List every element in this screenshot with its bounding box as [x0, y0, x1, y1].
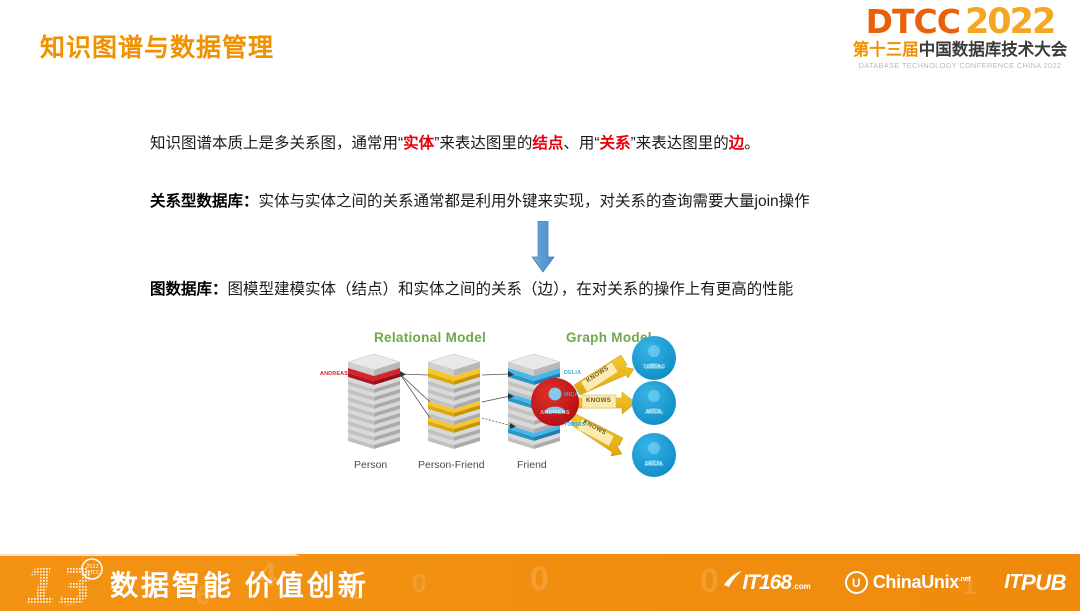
itpub-logo[interactable]: ITPUB	[1004, 570, 1066, 596]
slide-root: 知识图谱与数据管理 DTCC 2022 第十三届中国数据库技术大会 DATABA…	[0, 0, 1080, 611]
dtcc-chinese-name: 第十三届中国数据库技术大会	[848, 40, 1072, 60]
graph-node-delia-label: DELIA	[640, 461, 668, 467]
line2-text: 实体与实体之间的关系通常都是利用外键来实现，对关系的查询需要大量join操作	[259, 193, 810, 210]
dtcc-edition-prefix: 第十三届	[853, 41, 919, 59]
chinaunix-u-icon: U	[845, 571, 868, 594]
it168-swoosh-icon	[723, 571, 743, 595]
watermark-2: 0	[530, 560, 549, 599]
footer-bar: 4 0 0 1 0 6 1 13 2022 DTCC 数据智能 价值创新	[0, 554, 1080, 611]
line1-part2: ”来表达图里的	[434, 135, 532, 152]
edition-13-logo: 13 2022 DTCC	[22, 556, 110, 611]
footer-slogan: 数据智能 价值创新	[110, 564, 369, 604]
table-name-person: Person	[354, 459, 387, 471]
chinaunix-logo[interactable]: U ChinaUnix.net	[845, 571, 971, 594]
chinaunix-suffix: .net	[959, 576, 970, 583]
body-line-2: 关系型数据库：实体与实体之间的关系通常都是利用外键来实现，对关系的查询需要大量j…	[150, 191, 810, 213]
itpub-text-pub: PUB	[1021, 570, 1066, 596]
dtcc-conference-name: 中国数据库技术大会	[919, 41, 1068, 59]
line1-emphasis-edge: 边	[729, 135, 745, 152]
it168-suffix: .com	[792, 582, 811, 591]
chinaunix-text: ChinaUnix	[873, 572, 959, 592]
body-line-3: 图数据库：图模型建模实体（结点）和实体之间的关系（边），在对关系的操作上有更高的…	[150, 279, 793, 301]
watermark-1: 0	[412, 568, 426, 599]
line1-part3: 、用“	[563, 135, 599, 152]
graph-rel-label-2: KNOWS	[586, 397, 611, 404]
watermark-4: 0	[700, 562, 719, 601]
edition-sub-bottom: DTCC	[86, 570, 100, 576]
graph-node-tobias-label: TOBIAS	[640, 364, 668, 370]
dtcc-conference-logo: DTCC 2022 第十三届中国数据库技术大会 DATABASE TECHNOL…	[848, 4, 1072, 78]
graph-node-mica-label: MICA	[640, 409, 668, 415]
body-line-1: 知识图谱本质上是多关系图，通常用“实体”来表达图里的结点、用“关系”来表达图里的…	[150, 133, 760, 155]
relational-row-label-delia: DELIA	[564, 370, 581, 376]
page-title: 知识图谱与数据管理	[40, 28, 274, 64]
line1-part4: ”来表达图里的	[631, 135, 729, 152]
it168-text: IT168	[742, 571, 791, 594]
sponsor-logos: IT168.com U ChinaUnix.net ITPUB	[723, 554, 1066, 611]
itpub-text-it: IT	[1004, 571, 1021, 594]
table-name-friend: Friend	[517, 459, 547, 471]
relational-vs-graph-diagram: Relational Model Graph Model	[316, 326, 698, 486]
line1-emphasis-relation: 关系	[600, 135, 631, 152]
line3-label: 图数据库：	[150, 281, 228, 298]
dtcc-english-name: DATABASE TECHNOLOGY CONFERENCE CHINA 202…	[848, 60, 1072, 72]
relational-row-label-mica: MICA	[564, 392, 579, 398]
line1-emphasis-entity: 实体	[403, 135, 434, 152]
line1-emphasis-node: 结点	[532, 135, 563, 152]
dtcc-letters: DTCC	[866, 4, 960, 40]
dtcc-logo-wordmark: DTCC 2022	[848, 4, 1072, 40]
line1-part5: 。	[744, 135, 760, 152]
table-name-person-friend: Person-Friend	[418, 459, 485, 471]
graph-node-andreas-label: ANDREAS	[536, 410, 574, 416]
line3-text: 图模型建模实体（结点）和实体之间的关系（边），在对关系的操作上有更高的性能	[228, 281, 794, 298]
down-arrow-icon	[531, 221, 555, 273]
line1-part1: 知识图谱本质上是多关系图，通常用“	[150, 135, 403, 152]
line2-label: 关系型数据库：	[150, 193, 259, 210]
it168-logo[interactable]: IT168.com	[723, 571, 810, 595]
relational-row-label-andreas: ANDREAS	[320, 371, 348, 377]
dtcc-year: 2022	[965, 4, 1054, 40]
